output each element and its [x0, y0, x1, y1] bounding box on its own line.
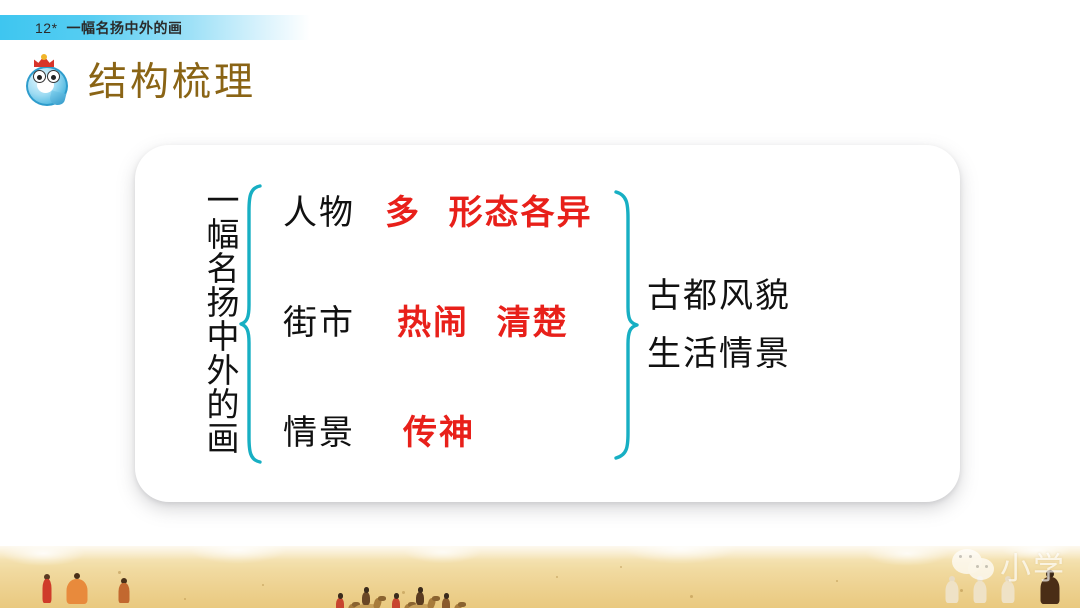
row-value-people: 多 形态各异: [385, 185, 593, 234]
section-heading: 结构梳理: [22, 56, 256, 108]
vertical-title: 一幅名扬中外的画: [195, 183, 237, 455]
watermark-label: 小学: [1000, 543, 1066, 588]
lesson-title: 一幅名扬中外的画: [67, 18, 183, 38]
aged-paper-texture: [0, 546, 1080, 608]
crown-jewel-icon: [41, 54, 47, 60]
row-value-scene: 传神: [403, 405, 475, 454]
row-label-people: 人物: [283, 185, 375, 234]
painting-figure: [42, 574, 52, 604]
table-row: 街市 热闹 清楚: [283, 295, 613, 405]
row-label-scene: 情景: [283, 405, 375, 454]
left-brace-icon: [239, 183, 269, 465]
structure-diagram-card: 一幅名扬中外的画 人物 多 形态各异 街市 热闹 清楚 情景 传神 古都风貌 生…: [135, 145, 960, 502]
row-value-street: 热闹 清楚: [397, 295, 569, 344]
footer-scroll-decoration: 小学: [0, 540, 1080, 608]
table-row: 情景 传神: [283, 405, 613, 515]
page-title: 结构梳理: [88, 63, 256, 102]
conclusion-line-1: 古都风貌: [647, 267, 791, 325]
lesson-number: 12*: [35, 20, 58, 36]
mascot-eye-left-icon: [33, 70, 46, 83]
conclusion-block: 古都风貌 生活情景: [647, 267, 791, 384]
right-brace-icon: [610, 189, 644, 461]
wechat-watermark: 小学: [952, 543, 1066, 588]
table-row: 人物 多 形态各异: [283, 185, 613, 295]
wechat-icon: [952, 549, 998, 583]
q-mascot-icon: [22, 56, 74, 108]
structure-rows: 人物 多 形态各异 街市 热闹 清楚 情景 传神: [283, 185, 613, 515]
lesson-header-bar: 12* 一幅名扬中外的画: [0, 15, 310, 40]
mascot-eye-right-icon: [47, 70, 60, 83]
painting-figure: [66, 574, 88, 604]
painting-figure: [118, 578, 130, 604]
conclusion-line-2: 生活情景: [647, 325, 791, 383]
row-label-street: 街市: [283, 295, 375, 344]
